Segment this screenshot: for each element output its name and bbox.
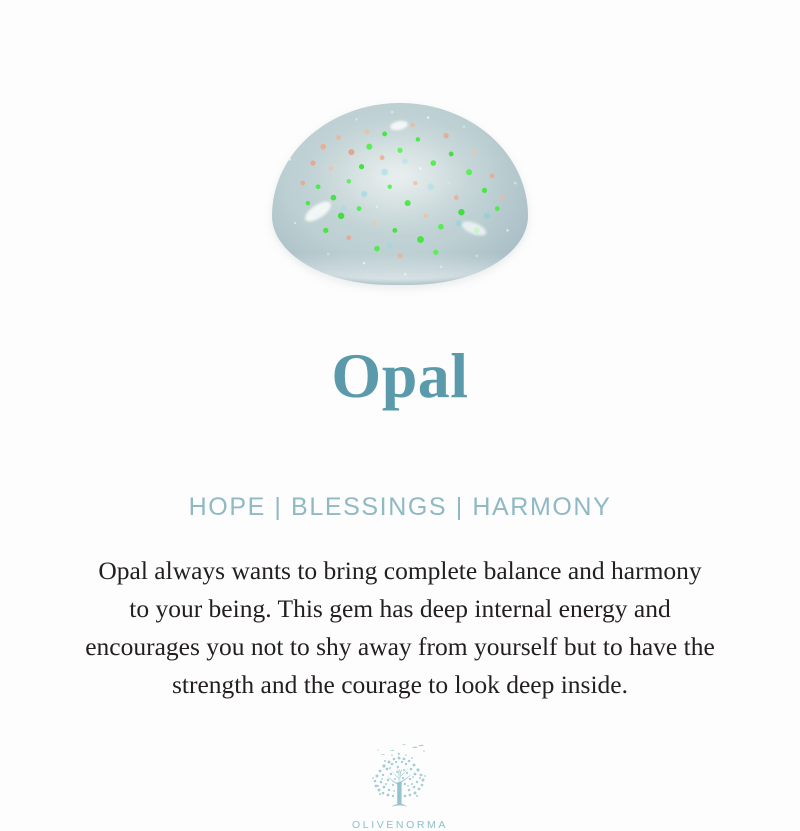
gemstone-info-card: Opal HOPE | BLESSINGS | HARMONY Opal alw… [0, 0, 800, 800]
page-title: Opal [331, 344, 468, 408]
brand-logo: OLIVENORMA [352, 742, 448, 831]
description-line: to your being. This gem has deep interna… [20, 590, 780, 628]
gemstone-image-area [0, 0, 800, 300]
keywords-subtitle: HOPE | BLESSINGS | HARMONY [189, 493, 612, 522]
description-line: strength and the courage to look deep in… [20, 666, 780, 704]
brand-wordmark: OLIVENORMA [352, 819, 448, 831]
description-text: Opal always wants to bring complete bala… [20, 552, 780, 704]
description-line: encourages you not to shy away from your… [20, 628, 780, 666]
opal-cabochon-gemstone [272, 103, 528, 285]
tree-of-life-icon [354, 742, 446, 816]
description-line: Opal always wants to bring complete bala… [20, 552, 780, 590]
